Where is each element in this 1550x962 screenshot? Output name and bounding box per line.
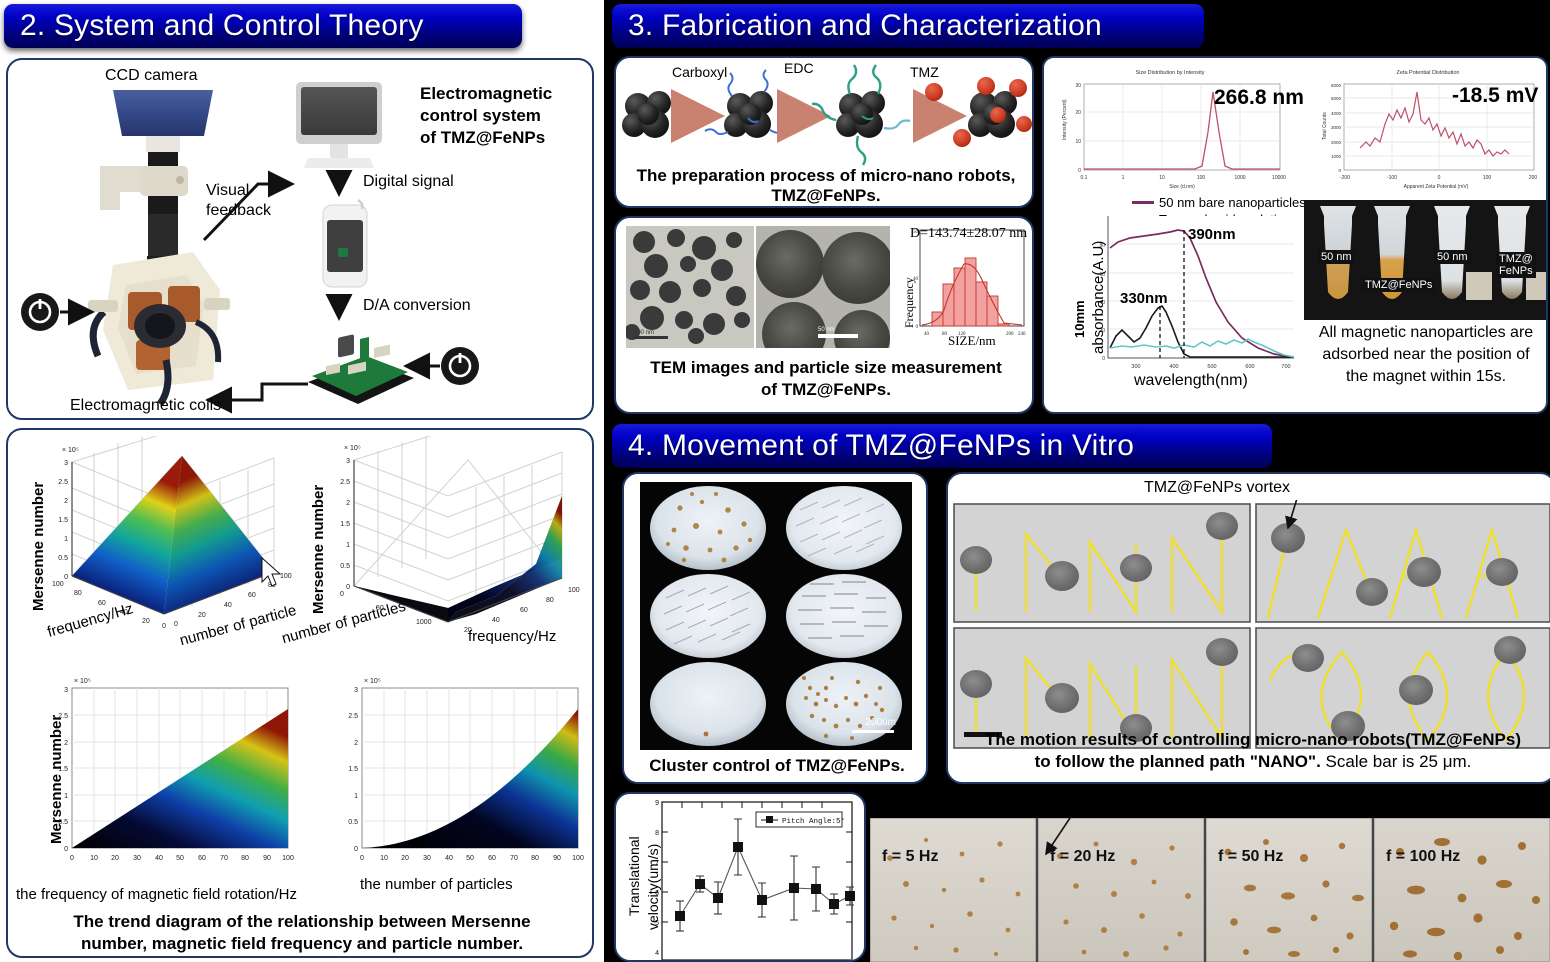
- tmz-label: TMZ: [910, 64, 939, 80]
- svg-text:20: 20: [198, 612, 206, 619]
- svg-text:100: 100: [52, 581, 64, 588]
- dls-title: Size Distribution by Intensity: [1135, 70, 1204, 76]
- svg-text:1000: 1000: [1234, 175, 1245, 181]
- nano-caption-line2b: Scale bar is 25 μm.: [1326, 752, 1472, 771]
- mersenne-b-zlabel: Mersenne number: [310, 485, 327, 614]
- nano-caption-line2a: to follow the planned path "NANO".: [1035, 752, 1326, 771]
- velocity-legend-text: Pitch Angle:5°: [782, 817, 845, 826]
- svg-text:0: 0: [1102, 356, 1105, 362]
- vial-label-3: 50 nm: [1434, 250, 1471, 264]
- zeta-ylabel: Total Counts: [1322, 112, 1328, 140]
- nano-caption-line2: to follow the planned path "NANO". Scale…: [948, 752, 1550, 772]
- svg-text:40: 40: [924, 332, 930, 337]
- svg-text:60: 60: [98, 600, 106, 607]
- nano-vortex-label: TMZ@FeNPs vortex: [1144, 479, 1290, 497]
- svg-text:700: 700: [1281, 364, 1290, 370]
- particle-size-histogram: 50 40 0 4080120 200240 Frequency SIZE/nm: [894, 224, 1032, 350]
- svg-text:90: 90: [263, 855, 271, 862]
- svg-text:1: 1: [354, 793, 358, 800]
- freq-label-4: f = 100 Hz: [1386, 848, 1460, 866]
- mersenne-b-ylabel: frequency/Hz: [468, 628, 556, 645]
- vials-caption-line3: the magnet within 15s.: [1302, 368, 1548, 387]
- svg-text:0.1: 0.1: [1081, 175, 1088, 181]
- svg-text:80: 80: [531, 855, 539, 862]
- vial-label-4-line2: FeNPs: [1499, 265, 1533, 277]
- mersenne-surface-b: 00.51 1.522.5 3 × 10⁵ 0501000 204060 801…: [296, 436, 592, 646]
- svg-text:60: 60: [488, 855, 496, 862]
- svg-text:2.5: 2.5: [340, 479, 350, 486]
- svg-text:0: 0: [340, 591, 344, 598]
- section-header-2-overlay: 2. System and Control Theory: [4, 4, 522, 48]
- da-conversion-label: D/A conversion: [363, 297, 471, 315]
- svg-text:200: 200: [1006, 332, 1014, 337]
- section-header-4: 4. Movement of TMZ@FeNPs in Vitro: [612, 424, 1272, 468]
- svg-text:1: 1: [346, 542, 350, 549]
- svg-text:60: 60: [198, 855, 206, 862]
- svg-text:50 nm: 50 nm: [818, 327, 835, 333]
- svg-text:-100: -100: [1387, 175, 1397, 181]
- uvvis-ylabel: absorbance(A.U): [1090, 241, 1107, 354]
- svg-text:3: 3: [64, 687, 68, 694]
- svg-text:1.5: 1.5: [348, 766, 358, 773]
- svg-text:70: 70: [510, 855, 518, 862]
- svg-text:0: 0: [346, 584, 350, 591]
- svg-text:100: 100: [1483, 175, 1492, 181]
- svg-text:80: 80: [74, 590, 82, 597]
- svg-text:50: 50: [176, 855, 184, 862]
- velocity-ylabel-line1: Translational: [626, 836, 642, 916]
- uvvis-peak-390: 390nm: [1188, 226, 1236, 243]
- cluster-caption: Cluster control of TMZ@FeNPs.: [624, 756, 928, 776]
- poster-root: 2. System and Control Theory 3. Fabricat…: [0, 0, 1550, 962]
- svg-text:9: 9: [655, 800, 659, 807]
- freq-label-3: f = 50 Hz: [1218, 848, 1283, 866]
- svg-text:2: 2: [346, 500, 350, 507]
- svg-text:0: 0: [1338, 168, 1341, 173]
- uvvis-ylabel-side: 10mm: [1072, 300, 1087, 338]
- mersenne-surface-a: 00.51 1.522.5 3 × 10⁵ 1008060 40200 0204…: [12, 436, 304, 646]
- svg-text:100: 100: [1197, 175, 1206, 181]
- svg-text:1000: 1000: [416, 619, 432, 626]
- svg-text:200: 200: [1529, 175, 1538, 181]
- svg-text:5000: 5000: [1331, 96, 1342, 101]
- cluster-scalebar-label: 200um: [865, 717, 896, 728]
- preparation-caption-line1: The preparation process of micro-nano ro…: [616, 166, 1034, 186]
- svg-text:90: 90: [553, 855, 561, 862]
- svg-text:1.5: 1.5: [340, 521, 350, 528]
- electromagnetic-coils-label: Electromagnetic coils: [70, 397, 221, 415]
- frequency-images-svg: [870, 818, 1550, 962]
- svg-text:80: 80: [241, 855, 249, 862]
- svg-text:60: 60: [520, 607, 528, 614]
- svg-text:10: 10: [380, 855, 388, 862]
- freq-label-2: f = 20 Hz: [1050, 848, 1115, 866]
- vial-label-2: TMZ@FeNPs: [1362, 278, 1435, 292]
- power-icon-right: [441, 347, 479, 385]
- svg-text:3: 3: [354, 687, 358, 694]
- svg-text:200 nm: 200 nm: [634, 330, 654, 336]
- svg-text:3000: 3000: [1331, 125, 1342, 130]
- uvvis-xlabel: wavelength(nm): [1134, 372, 1248, 390]
- svg-text:0: 0: [64, 574, 68, 581]
- dls-chart: Size Distribution by Intensity 0102030 0…: [1050, 62, 1298, 192]
- svg-text:0: 0: [1438, 175, 1441, 181]
- mersenne-2d-a-ylabel: Mersenne number: [48, 715, 65, 844]
- svg-text:0: 0: [354, 846, 358, 853]
- svg-text:20: 20: [401, 855, 409, 862]
- svg-text:6000: 6000: [1331, 83, 1342, 88]
- svg-text:2.5: 2.5: [58, 479, 68, 486]
- svg-text:400: 400: [1169, 364, 1178, 370]
- svg-text:10: 10: [1075, 139, 1081, 145]
- svg-text:0: 0: [1078, 168, 1081, 174]
- tem-image-right: 50 nm: [756, 226, 890, 348]
- svg-text:3: 3: [346, 458, 350, 465]
- svg-text:4000: 4000: [1331, 111, 1342, 116]
- svg-text:30: 30: [1075, 83, 1081, 89]
- svg-text:20: 20: [142, 618, 150, 625]
- cluster-image-grid: 200um: [640, 482, 912, 750]
- svg-text:100: 100: [280, 573, 292, 580]
- nano-caption-line1: The motion results of controlling micro-…: [948, 730, 1550, 750]
- svg-text:× 10⁵: × 10⁵: [364, 678, 381, 685]
- svg-text:40: 40: [492, 617, 500, 624]
- dls-xlabel: Size (d.nm): [1169, 184, 1195, 190]
- svg-text:2: 2: [64, 498, 68, 505]
- vial-photo-panel: 50 nm TMZ@FeNPs 50 nm TMZ@ FeNPs: [1304, 200, 1548, 320]
- svg-text:× 10⁵: × 10⁵: [62, 447, 79, 454]
- section-header-3: 3. Fabrication and Characterization: [612, 4, 1204, 48]
- preparation-card: Carboxyl EDC TMZ The preparation process…: [614, 56, 1034, 208]
- svg-text:0: 0: [162, 623, 166, 630]
- histogram-xlabel: SIZE/nm: [948, 333, 996, 349]
- svg-text:1000: 1000: [1331, 154, 1342, 159]
- tem-caption-line1: TEM images and particle size measurement: [616, 358, 1034, 378]
- svg-text:100: 100: [572, 855, 584, 862]
- svg-text:10: 10: [90, 855, 98, 862]
- edc-label: EDC: [784, 60, 814, 76]
- system-title-line1: Electromagnetic: [420, 84, 552, 104]
- svg-text:240: 240: [1018, 332, 1026, 337]
- zeta-annotation: -18.5 mV: [1452, 84, 1538, 108]
- svg-text:0.5: 0.5: [348, 819, 358, 826]
- svg-text:40: 40: [155, 855, 163, 862]
- svg-text:0: 0: [64, 846, 68, 853]
- vials-caption-line2: adsorbed near the position of: [1302, 346, 1548, 365]
- svg-text:300: 300: [1131, 364, 1140, 370]
- svg-text:80: 80: [546, 597, 554, 604]
- svg-text:2: 2: [354, 740, 358, 747]
- velocity-card: 987 654 Pitch Angle:5° Translational vel…: [614, 792, 866, 962]
- mersenne-area-b: 00.51 1.522.5 3 × 10⁵ 01020 304050 60708…: [308, 672, 594, 884]
- svg-text:60: 60: [248, 592, 256, 599]
- visual-feedback-line1: Visual: [206, 182, 249, 200]
- section-title-4: 4. Movement of TMZ@FeNPs in Vitro: [628, 429, 1134, 463]
- preparation-caption-line2: TMZ@FeNPs.: [616, 186, 1034, 206]
- svg-text:20: 20: [1075, 110, 1081, 116]
- system-diagram-card: CCD camera Electromagnetic control syste…: [6, 58, 594, 420]
- svg-text:600: 600: [1245, 364, 1254, 370]
- legend-swatch-bare: [1132, 201, 1154, 204]
- histogram-ylabel: Frequency: [902, 277, 917, 328]
- svg-text:0.5: 0.5: [58, 555, 68, 562]
- mersenne-caption-line1: The trend diagram of the relationship be…: [8, 912, 594, 932]
- svg-text:30: 30: [423, 855, 431, 862]
- svg-text:70: 70: [220, 855, 228, 862]
- svg-text:1: 1: [64, 536, 68, 543]
- cluster-control-card: 200um Cluster control of TMZ@FeNPs.: [622, 472, 928, 784]
- svg-text:3: 3: [64, 460, 68, 467]
- svg-text:10: 10: [1159, 175, 1165, 181]
- system-title-line3: of TMZ@FeNPs: [420, 128, 545, 148]
- mersenne-a-zlabel: Mersenne number: [30, 482, 47, 611]
- svg-text:2000: 2000: [1331, 140, 1342, 145]
- ccd-camera-label: CCD camera: [105, 67, 197, 85]
- svg-text:80: 80: [942, 332, 948, 337]
- tem-image-left: 200 nm: [626, 226, 754, 348]
- svg-text:0.5: 0.5: [340, 563, 350, 570]
- visual-feedback-line2: feedback: [206, 202, 271, 220]
- svg-text:100: 100: [568, 587, 580, 594]
- svg-text:50: 50: [466, 855, 474, 862]
- svg-text:× 10⁵: × 10⁵: [344, 445, 361, 452]
- dls-ylabel: Intensity (Percent): [1062, 99, 1068, 140]
- zeta-chart: Zeta Potential Distribution 010002000 30…: [1312, 62, 1546, 194]
- system-title-line2: control system: [420, 106, 541, 126]
- nano-path-svg: [950, 500, 1550, 754]
- svg-text:0: 0: [174, 621, 178, 628]
- digital-signal-label: Digital signal: [363, 173, 454, 191]
- svg-text:4: 4: [655, 950, 659, 957]
- svg-text:0: 0: [360, 855, 364, 862]
- dls-annotation: 266.8 nm: [1214, 86, 1304, 110]
- freq-label-1: f = 5 Hz: [882, 848, 938, 866]
- mersenne-card: 00.51 1.522.5 3 × 10⁵ 1008060 40200 0204…: [6, 428, 594, 958]
- freq-vortex-label: TMZ@FeNPs vortex: [1078, 792, 1224, 810]
- uvvis-chart: 02040 6080 300400500 600700 390nm 330nm …: [1074, 208, 1306, 408]
- svg-text:10000: 10000: [1272, 175, 1286, 181]
- vials-caption-line1: All magnetic nanoparticles are: [1302, 324, 1548, 343]
- histogram-title: D=143.74±28.07 nm: [910, 226, 1027, 242]
- mersenne-2d-b-xlabel: the number of particles: [360, 876, 513, 893]
- tem-caption-line2: of TMZ@FeNPs.: [616, 380, 1034, 400]
- svg-text:1: 1: [1122, 175, 1125, 181]
- velocity-ylabel-line2: velocity(um/s): [645, 844, 661, 930]
- zeta-xlabel: Apparent Zeta Potential (mV): [1404, 184, 1469, 190]
- carboxyl-label: Carboxyl: [672, 64, 727, 80]
- tem-card: 200 nm 50 nm: [614, 216, 1034, 414]
- svg-text:30: 30: [133, 855, 141, 862]
- section-title-2-text: 2. System and Control Theory: [20, 9, 424, 43]
- svg-text:8: 8: [655, 830, 659, 837]
- uvvis-peak-330: 330nm: [1120, 290, 1168, 307]
- svg-text:0: 0: [70, 855, 74, 862]
- svg-text:2.5: 2.5: [348, 713, 358, 720]
- svg-text:100: 100: [282, 855, 294, 862]
- nano-path-card: TMZ@FeNPs vortex: [946, 472, 1550, 784]
- svg-text:× 10⁵: × 10⁵: [74, 678, 91, 685]
- mersenne-area-a: 00.51 1.522.5 3 × 10⁵ 01020 304050 60708…: [18, 672, 304, 884]
- frequency-image-row: TMZ@FeNPs vortex: [870, 792, 1550, 962]
- vial-label-4-line1: TMZ@: [1499, 253, 1533, 265]
- svg-text:40: 40: [445, 855, 453, 862]
- svg-text:40: 40: [224, 602, 232, 609]
- vial-label-4: TMZ@ FeNPs: [1496, 252, 1536, 278]
- svg-text:1.5: 1.5: [58, 517, 68, 524]
- mersenne-caption-line2: number, magnetic field frequency and par…: [8, 934, 594, 954]
- zeta-title: Zeta Potential Distribution: [1397, 70, 1460, 76]
- power-icon-left: [21, 293, 59, 331]
- characterization-card: Size Distribution by Intensity 0102030 0…: [1042, 56, 1548, 414]
- svg-text:500: 500: [1207, 364, 1216, 370]
- section-title-3: 3. Fabrication and Characterization: [628, 9, 1102, 43]
- svg-text:-200: -200: [1340, 175, 1350, 181]
- mersenne-2d-a-xlabel: the frequency of magnetic field rotation…: [16, 886, 297, 903]
- svg-text:20: 20: [111, 855, 119, 862]
- vial-label-1: 50 nm: [1318, 250, 1355, 264]
